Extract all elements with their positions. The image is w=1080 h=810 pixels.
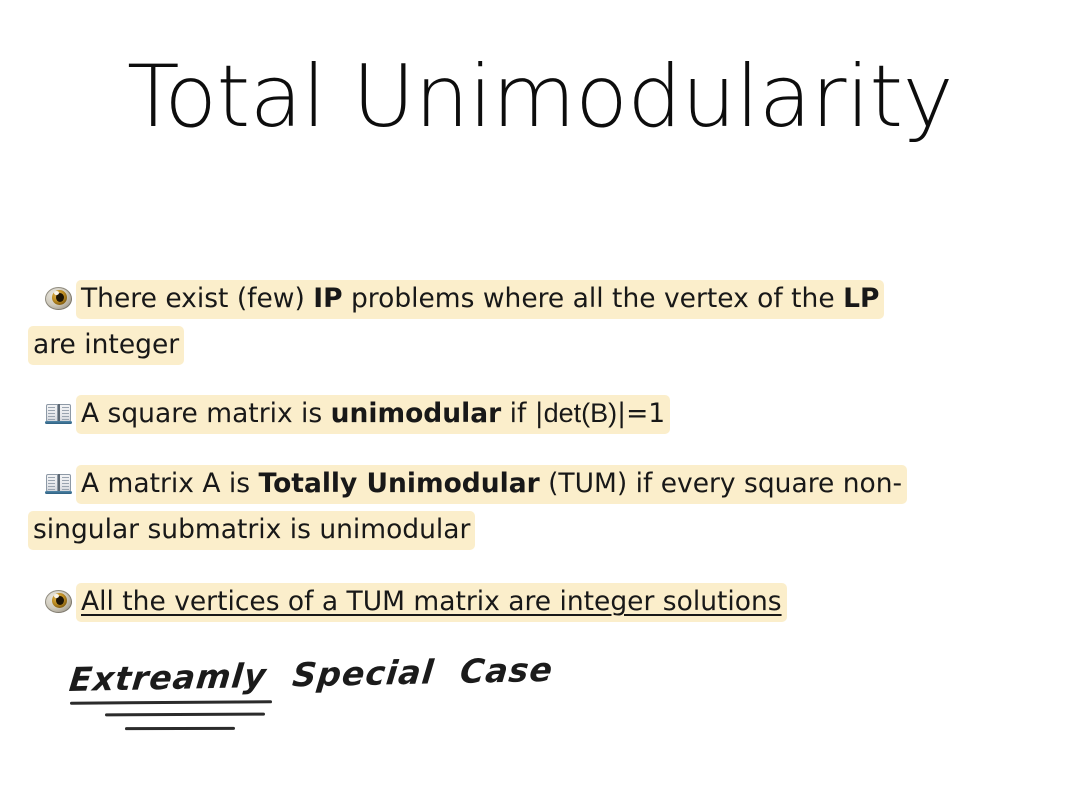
- bullet-3-text-line2: singular submatrix is unimodular: [28, 511, 475, 550]
- bullet-2-text-a: A square matrix is: [81, 398, 331, 429]
- handwritten-text: ExtreamlySpecialCase: [67, 650, 555, 699]
- bullet-3-line-1: A matrix A is Totally Unimodular (TUM) i…: [0, 461, 1040, 507]
- bullet-item-4: All the vertices of a TUM matrix are int…: [0, 579, 1040, 625]
- bullet-2-text-c: if |: [501, 398, 543, 429]
- bullet-3-line-2: singular submatrix is unimodular: [28, 507, 1040, 553]
- bullet-2-line-1: A square matrix is unimodular if |det(B)…: [0, 390, 1040, 437]
- bullet-1-text-ip: IP: [313, 283, 342, 314]
- book-icon: [45, 470, 72, 497]
- handwritten-underline-2: [105, 713, 265, 717]
- bullet-4-text: All the vertices of a TUM matrix are int…: [76, 583, 787, 622]
- bullet-item-3: A matrix A is Totally Unimodular (TUM) i…: [0, 461, 1040, 553]
- handwritten-underline-3: [125, 727, 235, 730]
- bullet-2-text-det: det(B): [544, 398, 618, 428]
- handwritten-annotation: ExtreamlySpecialCase: [70, 655, 630, 750]
- bullet-1-text-line2: are integer: [28, 326, 184, 365]
- bullet-1-line-1: There exist (few) IP problems where all …: [0, 276, 1040, 322]
- handwritten-word-3: Case: [458, 650, 555, 691]
- bullet-1-text-lp: LP: [843, 283, 879, 314]
- slide-canvas: Total Unimodularity There exist (few) IP…: [0, 0, 1080, 810]
- bullet-1-text-a: There exist (few): [81, 283, 313, 314]
- bullet-item-1: There exist (few) IP problems where all …: [0, 276, 1040, 368]
- bullet-4-line-1: All the vertices of a TUM matrix are int…: [0, 579, 1040, 625]
- eye-icon: [45, 588, 72, 615]
- handwritten-word-1: Extreamly: [67, 656, 268, 699]
- bullet-3-text-a: A matrix A is: [81, 468, 259, 499]
- bullet-2-text-e: |=1: [617, 398, 665, 429]
- book-icon: [45, 400, 72, 427]
- bullet-3-text-c: (TUM) if every square non-: [540, 468, 902, 499]
- bullet-item-2: A square matrix is unimodular if |det(B)…: [0, 390, 1040, 437]
- slide-body: There exist (few) IP problems where all …: [0, 276, 1040, 635]
- bullet-1-text-c: problems where all the vertex of the: [343, 283, 844, 314]
- handwritten-underline-1: [70, 700, 272, 704]
- page-title: Total Unimodularity: [0, 52, 1080, 142]
- handwritten-word-2: Special: [291, 652, 437, 694]
- bullet-1-line-2: are integer: [28, 322, 1040, 368]
- bullet-2-text-unimodular: unimodular: [331, 398, 502, 429]
- bullet-3-text-tum: Totally Unimodular: [259, 468, 540, 499]
- eye-icon: [45, 285, 72, 312]
